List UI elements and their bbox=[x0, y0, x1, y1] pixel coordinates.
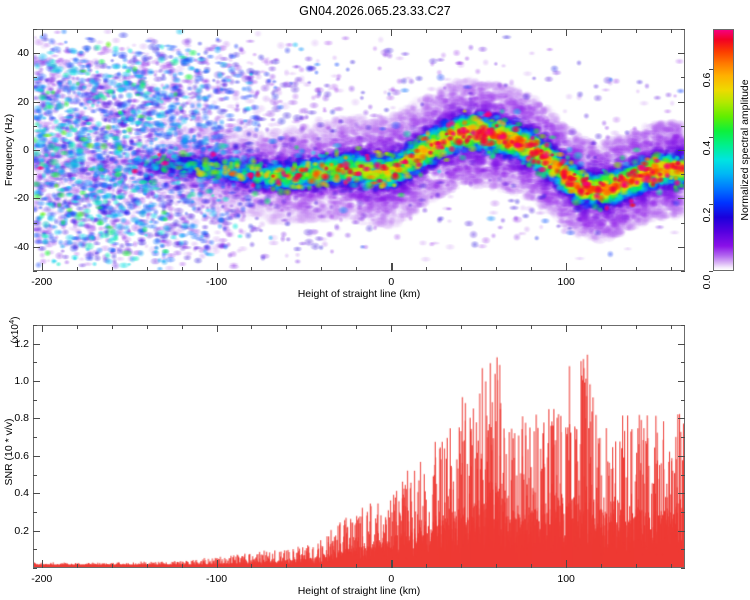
spectrogram-xtick-minor bbox=[671, 267, 672, 271]
snr-ylabel: SNR (10 * v/v) bbox=[3, 418, 15, 485]
spectrogram-xtick-top bbox=[426, 29, 427, 33]
colorbar-title: Normalized spectral amplitude bbox=[739, 79, 750, 220]
spectrogram-ytick-right bbox=[678, 102, 685, 103]
spectrogram-ytick bbox=[33, 53, 40, 54]
snr-xtick-top bbox=[531, 325, 532, 329]
snr-ytick-right bbox=[681, 437, 685, 438]
snr-xtick-minor bbox=[461, 564, 462, 568]
spectrogram-xticklabel: 100 bbox=[557, 276, 575, 288]
colorbar-gradient bbox=[713, 29, 734, 271]
spectrogram-ylabel: Frequency (Hz) bbox=[3, 114, 15, 186]
spectrogram-xtick-minor bbox=[112, 267, 113, 271]
spectrogram-ytick-right bbox=[678, 247, 685, 248]
snr-ytick-right bbox=[678, 381, 685, 382]
snr-ytick bbox=[33, 549, 37, 550]
snr-xtick-top bbox=[286, 325, 287, 329]
snr-ytick-right bbox=[681, 400, 685, 401]
spectrogram-yticklabel: 40 bbox=[0, 47, 29, 59]
snr-xtick-minor bbox=[636, 564, 637, 568]
snr-xtick-major bbox=[42, 560, 43, 568]
snr-ytick-right bbox=[681, 549, 685, 550]
spectrogram-ytick-right bbox=[681, 223, 685, 224]
spectrogram-xtick-minor bbox=[496, 267, 497, 271]
snr-exponent-value: 4 bbox=[7, 320, 16, 324]
spectrogram-xtick-top bbox=[182, 29, 183, 33]
snr-xtick-minor bbox=[286, 564, 287, 568]
spectrogram-xtick-top bbox=[112, 29, 113, 33]
snr-ytick bbox=[33, 531, 40, 532]
page-title: GN04.2026.065.23.33.C27 bbox=[0, 4, 750, 18]
spectrogram-canvas bbox=[34, 30, 684, 270]
spectrogram-ytick-right bbox=[681, 174, 685, 175]
spectrogram-ytick-right bbox=[681, 77, 685, 78]
spectrogram-xtick-minor bbox=[461, 267, 462, 271]
spectrogram-xticklabel: -100 bbox=[206, 276, 227, 288]
snr-xtick-top bbox=[566, 325, 567, 332]
snr-ytick bbox=[33, 344, 40, 345]
snr-exponent-prefix: (x10 bbox=[10, 324, 21, 343]
colorbar-ticklabel: 0.6 bbox=[701, 69, 713, 91]
spectrogram-ytick bbox=[33, 150, 40, 151]
spectrogram-xtick-top bbox=[496, 29, 497, 33]
spectrogram-yticklabel: -40 bbox=[0, 241, 29, 253]
spectrogram-axes bbox=[33, 29, 685, 271]
snr-ytick bbox=[33, 418, 40, 419]
snr-xtick-top bbox=[147, 325, 148, 329]
snr-axes bbox=[33, 325, 685, 568]
spectrogram-ytick bbox=[33, 126, 37, 127]
snr-ytick-right bbox=[678, 456, 685, 457]
snr-ytick-right bbox=[678, 344, 685, 345]
spectrogram-xtick-minor bbox=[636, 267, 637, 271]
snr-xtick-top bbox=[671, 325, 672, 329]
snr-xtick-top bbox=[251, 325, 252, 329]
spectrogram-ytick bbox=[33, 247, 40, 248]
spectrogram-xtick-minor bbox=[426, 267, 427, 271]
snr-xlabel: Height of straight line (km) bbox=[298, 585, 421, 597]
snr-canvas bbox=[34, 326, 684, 567]
spectrogram-xtick-top bbox=[321, 29, 322, 33]
spectrogram-ytick bbox=[33, 174, 37, 175]
spectrogram-xtick-minor bbox=[356, 267, 357, 271]
spectrogram-xtick-top bbox=[77, 29, 78, 33]
spectrogram-xtick-top bbox=[391, 29, 392, 36]
snr-xtick-minor bbox=[601, 564, 602, 568]
spectrogram-xtick-top bbox=[601, 29, 602, 33]
spectrogram-xtick-top bbox=[461, 29, 462, 33]
snr-xtick-top bbox=[496, 325, 497, 329]
snr-xticklabel: 100 bbox=[557, 573, 575, 585]
spectrogram-xtick-major bbox=[42, 263, 43, 271]
snr-ytick bbox=[33, 437, 37, 438]
spectrogram-xtick-top bbox=[671, 29, 672, 33]
spectrogram-yticklabel: -20 bbox=[0, 192, 29, 204]
snr-ytick bbox=[33, 456, 40, 457]
spectrogram-xtick-minor bbox=[601, 267, 602, 271]
snr-exponent-suffix: ) bbox=[10, 317, 21, 320]
snr-xtick-top bbox=[356, 325, 357, 329]
spectrogram-ytick-right bbox=[678, 53, 685, 54]
snr-ytick-right bbox=[681, 475, 685, 476]
snr-xtick-minor bbox=[112, 564, 113, 568]
snr-xtick-minor bbox=[531, 564, 532, 568]
snr-ytick-right bbox=[678, 418, 685, 419]
snr-xtick-top bbox=[601, 325, 602, 329]
snr-xtick-minor bbox=[671, 564, 672, 568]
spectrogram-ytick bbox=[33, 271, 37, 272]
snr-xticklabel: -200 bbox=[31, 573, 52, 585]
spectrogram-xtick-major bbox=[217, 263, 218, 271]
spectrogram-ytick-right bbox=[681, 126, 685, 127]
snr-exponent-label: (x104) bbox=[7, 317, 21, 344]
snr-xtick-minor bbox=[182, 564, 183, 568]
snr-xtick-minor bbox=[496, 564, 497, 568]
spectrogram-xtick-top bbox=[251, 29, 252, 33]
snr-ytick bbox=[33, 400, 37, 401]
snr-ytick-right bbox=[681, 512, 685, 513]
spectrogram-xtick-minor bbox=[286, 267, 287, 271]
snr-xtick-minor bbox=[321, 564, 322, 568]
spectrogram-xtick-minor bbox=[531, 267, 532, 271]
snr-xtick-top bbox=[42, 325, 43, 332]
spectrogram-ytick bbox=[33, 29, 37, 30]
spectrogram-xtick-minor bbox=[77, 267, 78, 271]
snr-xtick-top bbox=[217, 325, 218, 332]
snr-ytick-right bbox=[681, 362, 685, 363]
snr-ytick bbox=[33, 568, 37, 569]
spectrogram-xtick-top bbox=[531, 29, 532, 33]
snr-ytick bbox=[33, 381, 40, 382]
spectrogram-xticklabel: -200 bbox=[31, 276, 52, 288]
snr-xtick-top bbox=[461, 325, 462, 329]
snr-yticklabel: 1.0 bbox=[0, 375, 29, 387]
spectrogram-xtick-top bbox=[286, 29, 287, 33]
snr-xtick-top bbox=[112, 325, 113, 329]
colorbar-ticklabel: 0.4 bbox=[701, 137, 713, 159]
snr-ytick bbox=[33, 512, 37, 513]
spectrogram-ytick bbox=[33, 77, 37, 78]
snr-xtick-top bbox=[77, 325, 78, 329]
spectrogram-ytick-right bbox=[681, 29, 685, 30]
spectrogram-xtick-top bbox=[566, 29, 567, 36]
spectrogram-ytick bbox=[33, 198, 40, 199]
spectrogram-xtick-major bbox=[391, 263, 392, 271]
colorbar-ticklabel: 0.0 bbox=[701, 271, 713, 293]
snr-xtick-minor bbox=[147, 564, 148, 568]
snr-ytick-right bbox=[681, 568, 685, 569]
colorbar-ticklabel: 0.2 bbox=[701, 204, 713, 226]
snr-xtick-minor bbox=[77, 564, 78, 568]
snr-ytick bbox=[33, 325, 37, 326]
spectrogram-xtick-top bbox=[356, 29, 357, 33]
spectrogram-ytick-right bbox=[681, 271, 685, 272]
spectrogram-xtick-top bbox=[42, 29, 43, 36]
snr-ytick bbox=[33, 475, 37, 476]
spectrogram-ytick-right bbox=[678, 150, 685, 151]
snr-xticklabel: 0 bbox=[388, 573, 394, 585]
spectrogram-ytick-right bbox=[678, 198, 685, 199]
snr-ytick-right bbox=[678, 531, 685, 532]
spectrogram-xtick-top bbox=[147, 29, 148, 33]
spectrogram-xtick-top bbox=[217, 29, 218, 36]
spectrogram-xtick-minor bbox=[251, 267, 252, 271]
snr-xtick-major bbox=[391, 560, 392, 568]
spectrogram-xtick-minor bbox=[321, 267, 322, 271]
snr-xtick-minor bbox=[356, 564, 357, 568]
snr-xtick-top bbox=[391, 325, 392, 332]
snr-xtick-major bbox=[217, 560, 218, 568]
spectrogram-xtick-top bbox=[636, 29, 637, 33]
snr-xtick-top bbox=[182, 325, 183, 329]
spectrogram-xtick-minor bbox=[147, 267, 148, 271]
spectrogram-xtick-minor bbox=[182, 267, 183, 271]
figure-root: GN04.2026.065.23.33.C27 -200-10001004020… bbox=[0, 0, 750, 600]
snr-ytick bbox=[33, 362, 37, 363]
snr-ytick-right bbox=[678, 493, 685, 494]
snr-xtick-top bbox=[321, 325, 322, 329]
snr-xtick-minor bbox=[251, 564, 252, 568]
snr-xtick-top bbox=[426, 325, 427, 329]
spectrogram-ytick bbox=[33, 223, 37, 224]
snr-yticklabel: 0.4 bbox=[0, 487, 29, 499]
colorbar bbox=[713, 29, 734, 271]
spectrogram-xticklabel: 0 bbox=[388, 276, 394, 288]
snr-xtick-top bbox=[636, 325, 637, 329]
snr-xticklabel: -100 bbox=[206, 573, 227, 585]
spectrogram-xlabel: Height of straight line (km) bbox=[298, 288, 421, 300]
snr-xtick-major bbox=[566, 560, 567, 568]
spectrogram-xtick-major bbox=[566, 263, 567, 271]
spectrogram-ytick bbox=[33, 102, 40, 103]
snr-ytick bbox=[33, 493, 40, 494]
spectrogram-yticklabel: 20 bbox=[0, 96, 29, 108]
snr-yticklabel: 0.2 bbox=[0, 525, 29, 537]
snr-xtick-minor bbox=[426, 564, 427, 568]
snr-ytick-right bbox=[681, 325, 685, 326]
